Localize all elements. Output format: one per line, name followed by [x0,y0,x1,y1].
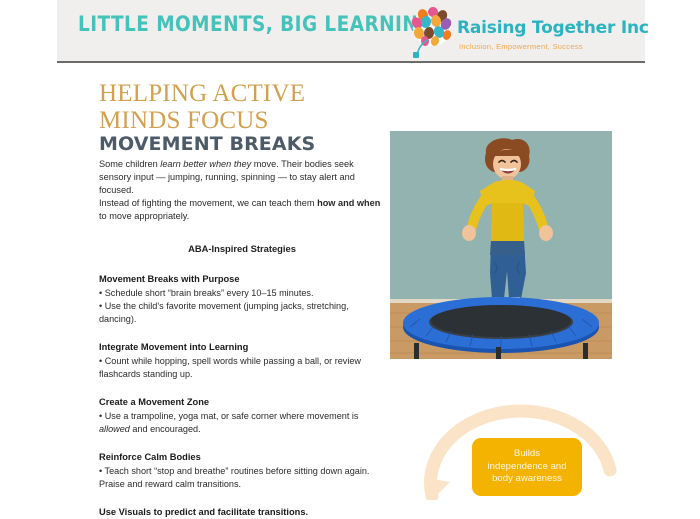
strategy-section-1: Movement Breaks with Purpose • Schedule … [99,273,385,326]
strategy-title: Movement Breaks with Purpose [99,273,385,286]
body-content: Some children learn better when they mov… [99,158,385,519]
intro-paragraph-2: Instead of fighting the movement, we can… [99,197,385,223]
strategy-section-4: Reinforce Calm Bodies • Teach short “sto… [99,451,385,491]
page-title-line2: MINDS FOCUS [99,107,269,134]
banner-title: LITTLE MOMENTS, BIG LEARNINGS [78,12,351,36]
header-divider-rule [57,61,645,63]
badge-line2: independence and [488,461,567,472]
strategies-heading: ABA-Inspired Strategies [99,242,385,255]
strategy-section-2: Integrate Movement into Learning • Count… [99,341,385,381]
page-title-line1: HELPING ACTIVE [99,80,305,107]
badge-line1: Builds [514,448,540,459]
status-badge: Builds independence and body awareness [472,438,582,496]
strategy-bullet: • Teach short “stop and breathe” routine… [99,465,385,491]
logo-tagline: Inclusion, Empowerment, Success [459,42,583,51]
brand-logo: Raising Together Inc Inclusion, Empowerm… [405,5,645,60]
intro-p2-b: to move appropriately. [99,211,189,221]
badge-text: Builds independence and body awareness [488,448,567,487]
intro-p1-a: Some children [99,159,160,169]
badge-callout-zone: Builds independence and body awareness [420,400,650,500]
intro-p1-em1: learn better when [160,159,231,169]
strategy-title: Create a Movement Zone [99,396,385,409]
strategy-bullet-b: and encouraged. [130,424,201,434]
people-circle-balloon-icon [405,6,459,60]
page-title: HELPING ACTIVE MINDS FOCUS [99,80,389,134]
strategy-title: Integrate Movement into Learning [99,341,385,354]
badge-line3: body awareness [492,473,562,484]
trampoline-photo [390,131,612,359]
strategy-bullet: • Use the child’s favorite movement (jum… [99,300,385,326]
page-subtitle: MOVEMENT BREAKS [99,133,315,155]
strategy-bullet: • Count while hopping, spell words while… [99,355,385,381]
intro-p1-em2: they [234,159,251,169]
strategy-bullet-em: allowed [99,424,130,434]
strategy-bullet: • Schedule short “brain breaks” every 10… [99,287,385,300]
strategy-title: Reinforce Calm Bodies [99,451,385,464]
logo-wordmark: Raising Together Inc [457,18,649,38]
closing-line: Use Visuals to predict and facilitate tr… [99,506,385,519]
strategy-section-3: Create a Movement Zone • Use a trampolin… [99,396,385,436]
intro-p2-strong: how and when [317,198,380,208]
intro-paragraph-1: Some children learn better when they mov… [99,158,385,197]
strategy-bullet-a: • Use a trampoline, yoga mat, or safe co… [99,411,358,421]
intro-p2-a: Instead of fighting the movement, we can… [99,198,317,208]
strategy-bullet: • Use a trampoline, yoga mat, or safe co… [99,410,385,436]
